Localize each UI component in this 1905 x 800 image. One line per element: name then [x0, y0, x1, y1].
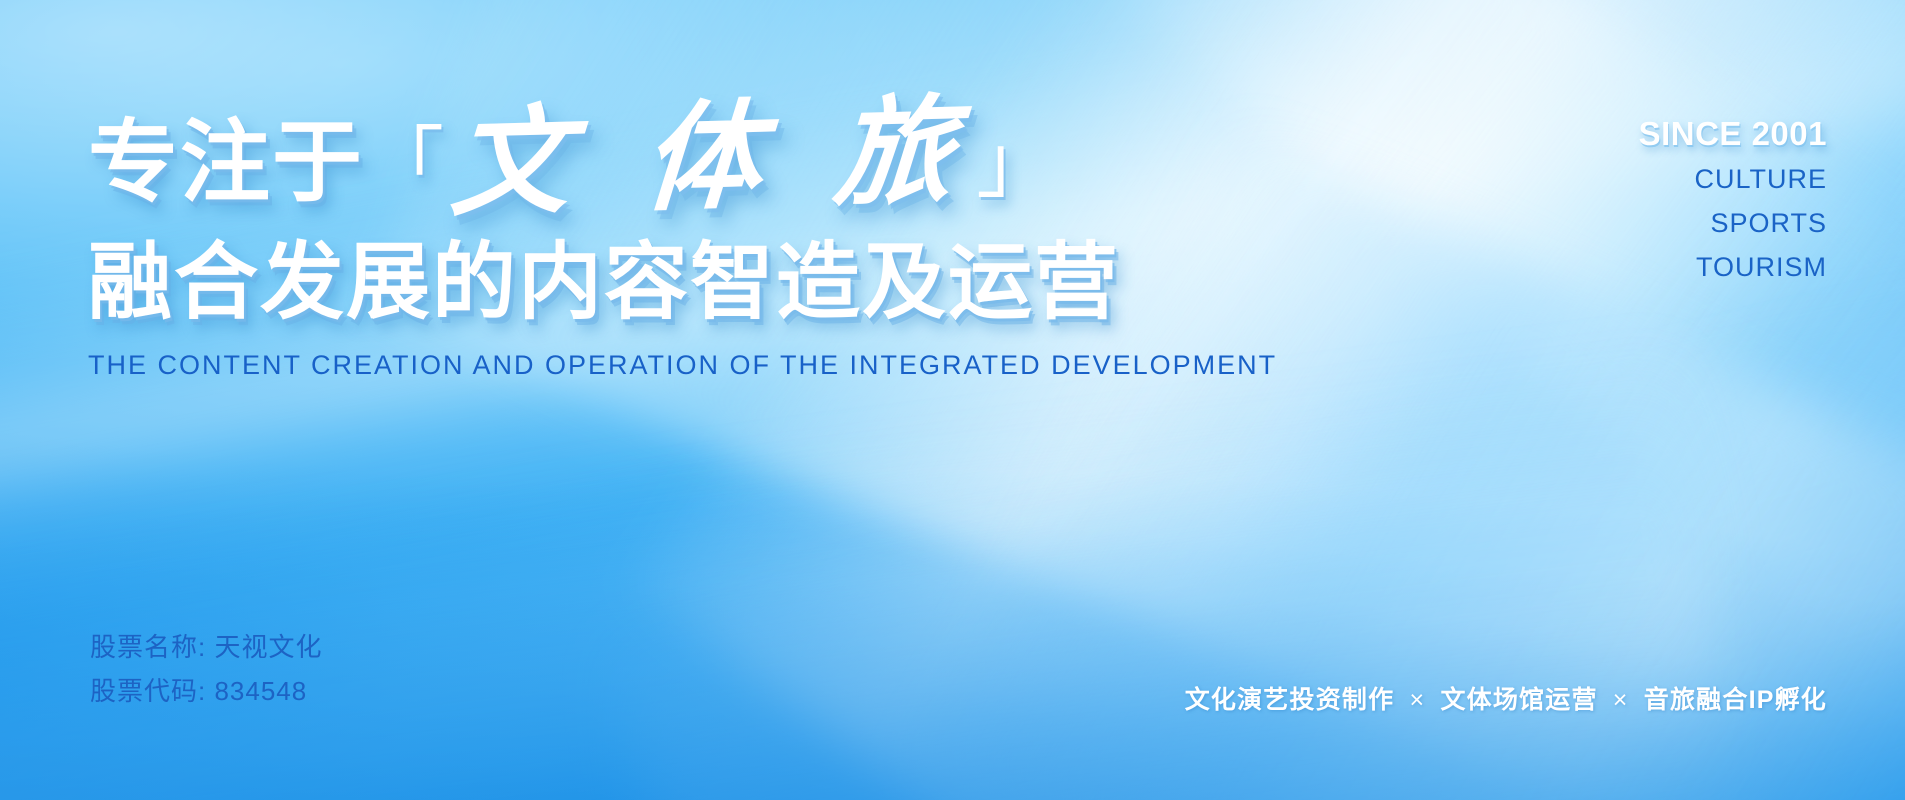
- tagline-part-3: 音旅融合IP孵化: [1644, 686, 1827, 714]
- tagline-part-1: 文化演艺投资制作: [1185, 686, 1395, 714]
- headline-line-2: 融合发展的内容智造及运营: [88, 228, 1308, 324]
- headline-line-1: 专注于 「 文 体 旅 」: [88, 96, 1308, 208]
- banner-content: 专注于 「 文 体 旅 」 融合发展的内容智造及运营 THE CONTENT C…: [0, 0, 1905, 800]
- tagline-part-2: 文体场馆运营: [1440, 686, 1597, 714]
- headline-english-subtitle: THE CONTENT CREATION AND OPERATION OF TH…: [88, 350, 1308, 381]
- headline-block: 专注于 「 文 体 旅 」 融合发展的内容智造及运营 THE CONTENT C…: [88, 96, 1308, 381]
- stock-name: 股票名称: 天视文化: [90, 625, 322, 670]
- since-item-culture: CULTURE: [1639, 163, 1827, 196]
- bracket-open-icon: 「: [364, 124, 446, 202]
- since-item-tourism: TOURISM: [1639, 251, 1827, 284]
- since-year-label: SINCE 2001: [1639, 116, 1827, 152]
- stock-code: 股票代码: 834548: [90, 669, 322, 714]
- headline-calligraphy: 文 体 旅: [442, 91, 978, 223]
- tagline-separator-2: ×: [1606, 686, 1636, 714]
- headline-subline: 融合发展的内容智造及运营: [88, 240, 1120, 324]
- business-tagline: 文化演艺投资制作 × 文体场馆运营 × 音旅融合IP孵化: [1185, 680, 1827, 716]
- stock-info-block: 股票名称: 天视文化 股票代码: 834548: [90, 625, 322, 714]
- bracket-close-icon: 」: [974, 124, 1056, 202]
- since-item-sports: SPORTS: [1639, 207, 1827, 240]
- tagline-separator-1: ×: [1402, 686, 1432, 714]
- headline-prefix: 专注于: [88, 118, 364, 208]
- since-block: SINCE 2001 CULTURE SPORTS TOURISM: [1639, 116, 1827, 284]
- banner-canvas: 专注于 「 文 体 旅 」 融合发展的内容智造及运营 THE CONTENT C…: [0, 0, 1905, 800]
